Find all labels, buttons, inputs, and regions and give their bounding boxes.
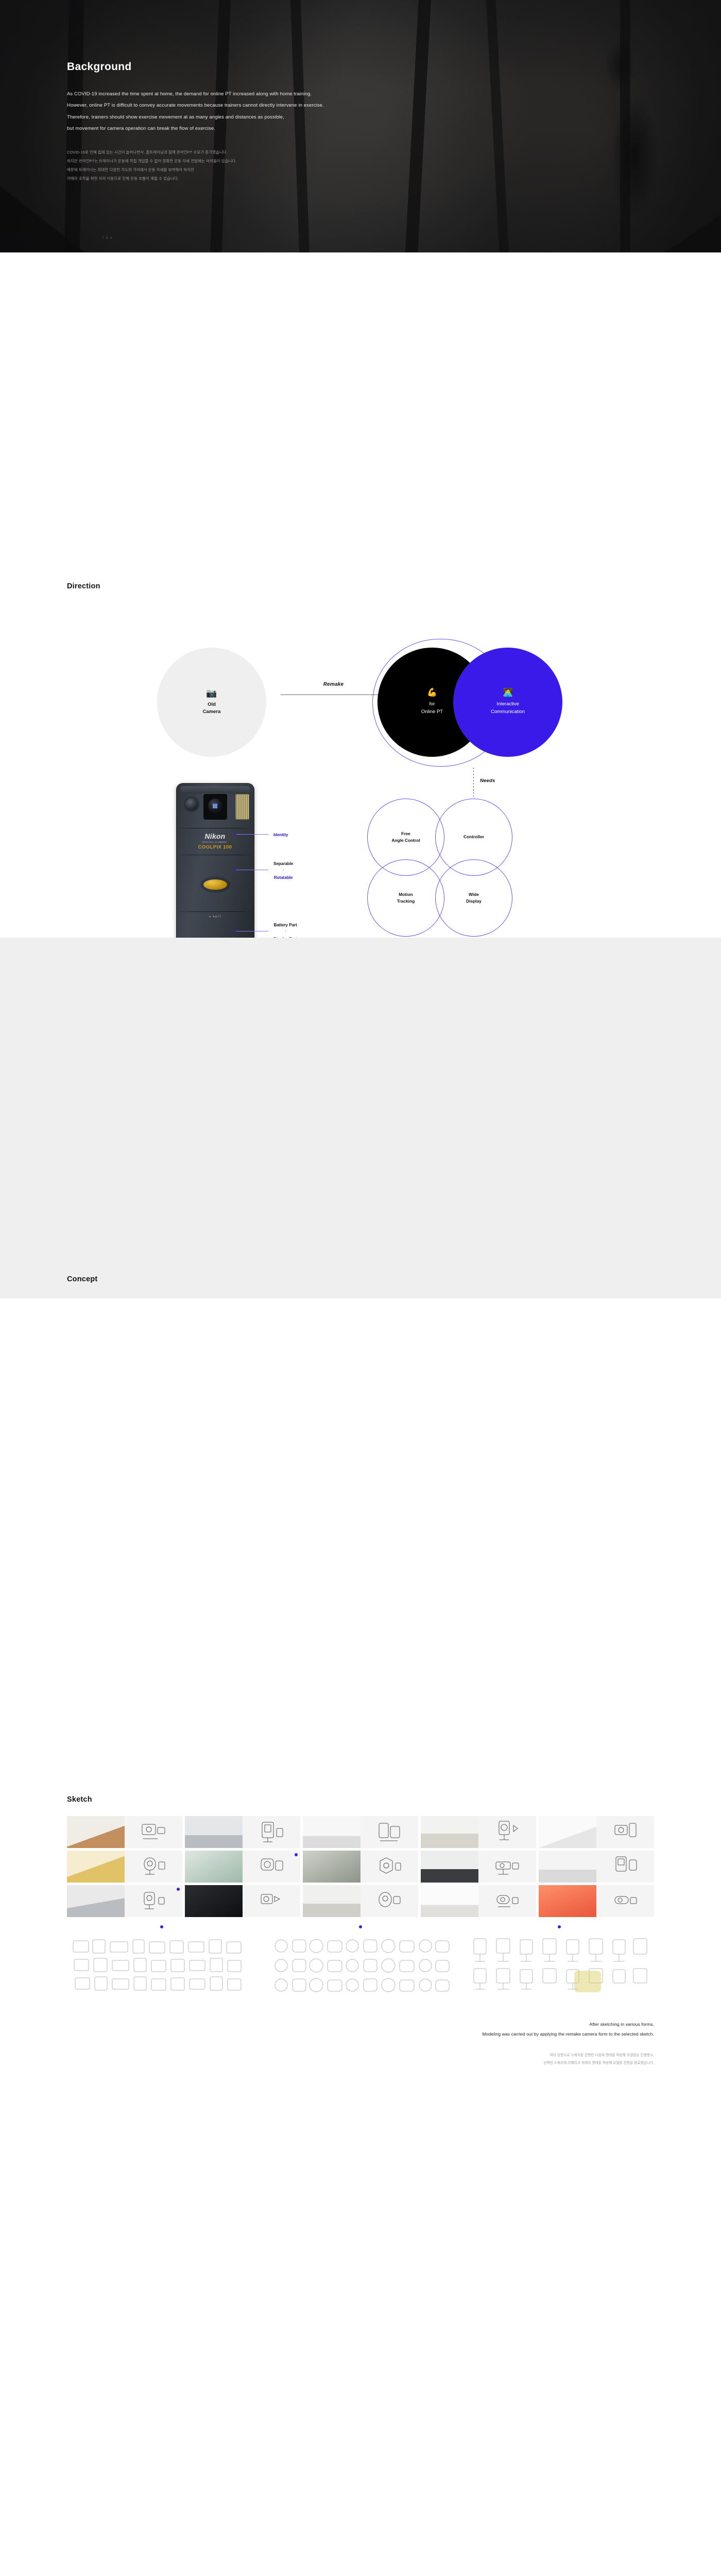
- sketch-thumbnail[interactable]: [303, 1851, 418, 1883]
- hero-content: Background As COVID-19 increased the tim…: [67, 61, 324, 183]
- sketch-en-line: Modeling was carried out by applying the…: [324, 2029, 654, 2039]
- sketch-drawing: [478, 1851, 536, 1883]
- sketch-thumbnail[interactable]: [539, 1851, 654, 1883]
- sketch-drawing: [596, 1885, 654, 1917]
- selected-badge-icon: [177, 1888, 180, 1891]
- sketch-drawing: [125, 1851, 182, 1883]
- sketch-drawing: [360, 1851, 418, 1883]
- remake-label: Remake: [281, 682, 386, 687]
- sketch-thumbnail[interactable]: [303, 1816, 418, 1848]
- callout-identity-label: Identity: [273, 833, 288, 837]
- camera-top-bar: [180, 786, 250, 793]
- people-icon: 👩‍💻: [503, 689, 513, 697]
- sketch-drawing: [478, 1885, 536, 1917]
- sketch-drawing: [478, 1816, 536, 1848]
- background-en-line: Therefore, trainers should show exercise…: [67, 112, 324, 123]
- sketch-thumbnail[interactable]: [539, 1816, 654, 1848]
- need-circle: Motion Tracking: [367, 859, 444, 937]
- need-label: Motion Tracking: [397, 891, 415, 905]
- needs-connector: Needs: [460, 768, 474, 796]
- sketch-sheet-drawing: [266, 1935, 455, 1996]
- old-camera-label-line1: Old: [208, 702, 216, 707]
- sketch-drawing: [596, 1851, 654, 1883]
- dotted-line-icon: [473, 768, 474, 796]
- sketch-thumbnail[interactable]: [421, 1851, 536, 1883]
- sketch-thumbnail[interactable]: [303, 1885, 418, 1917]
- interactive-communication-node: 👩‍💻 Interactive Communication: [453, 648, 562, 757]
- old-camera-node: 📷 Old Camera: [157, 648, 266, 757]
- sketch-paragraph-en: After sketching in various forms, Modeli…: [324, 2020, 654, 2039]
- need-label: Controller: [463, 834, 484, 840]
- camera-model-name: COOLPIX 100: [177, 844, 254, 850]
- callout-text: Identity: [273, 829, 288, 839]
- reference-photo: [67, 1885, 125, 1917]
- background-kr-line: 하지만 온라인PT는 트레이너가 운동에 직접 개입할 수 없어 정확한 운동 …: [67, 157, 324, 165]
- remake-connector: Remake: [281, 682, 386, 695]
- reference-photo: [67, 1816, 125, 1848]
- sketch-thumbnail-grid: [67, 1816, 654, 1917]
- background-paragraph-kr: COVID-19로 인해 집에 있는 시간이 늘어나면서, 홈트레이닝과 함께 …: [67, 148, 324, 183]
- reference-photo: [185, 1851, 243, 1883]
- sketch-kr-line: 여러 방향으로 스케치를 진행한 다음에 형태를 적용해 모델링을 진행했고,: [324, 2052, 654, 2059]
- flash-icon: [235, 794, 249, 820]
- need-label: Free Angle Control: [391, 831, 420, 844]
- online-pt-label-line1: for: [429, 701, 435, 707]
- selected-badge-icon: [359, 1925, 362, 1928]
- selected-badge-icon: [295, 1853, 298, 1856]
- sketch-thumbnail[interactable]: [67, 1851, 182, 1883]
- reference-photo: [303, 1885, 360, 1917]
- lens-icon: [208, 799, 222, 813]
- reference-photo: [421, 1885, 478, 1917]
- sketch-sheet-drawing: [67, 1935, 256, 1996]
- sketch-drawing: [243, 1885, 300, 1917]
- background-en-line: As COVID-19 increased the time spent at …: [67, 89, 324, 100]
- callout-battery-from: Battery Part: [273, 923, 297, 927]
- viewfinder-icon: [184, 796, 199, 812]
- selected-badge-icon: [558, 1925, 561, 1928]
- interactive-label-line1: Interactive: [496, 701, 519, 707]
- arrow-down-icon: ↓: [273, 868, 293, 872]
- reference-photo: [539, 1885, 596, 1917]
- concept-section: Concept Rotatable Structure Holder Body …: [0, 938, 721, 1298]
- background-title: Background: [67, 61, 324, 73]
- need-label-line2: Angle Control: [391, 838, 420, 843]
- callout-text: Separable ↓ Rotatable: [273, 858, 293, 882]
- reference-photo: [185, 1816, 243, 1848]
- need-label-line2: Display: [466, 899, 482, 904]
- muscle-icon: 💪: [427, 689, 437, 697]
- camera-seam: [178, 911, 252, 912]
- background-hero-section: Background As COVID-19 increased the tim…: [0, 0, 721, 252]
- needs-circle-group: Free Angle Control Controller Motion Tra…: [367, 799, 512, 937]
- sketch-drawing: [125, 1816, 182, 1848]
- reference-photo: [539, 1851, 596, 1883]
- sketch-drawing: [243, 1816, 300, 1848]
- callout-line-icon: [236, 834, 268, 835]
- concept-title: Concept: [67, 1275, 97, 1283]
- portfolio-page: Background As COVID-19 increased the tim…: [0, 0, 721, 2069]
- need-label-line1: Free: [401, 831, 410, 836]
- battery-marking: ▼ BATT: [177, 916, 254, 919]
- sketch-thumbnail[interactable]: [421, 1816, 536, 1848]
- interactive-label-line2: Communication: [491, 709, 525, 715]
- sketch-sheet[interactable]: [67, 1935, 256, 1996]
- sketch-sheet-drawing: [465, 1935, 654, 1996]
- grip-accent: [203, 879, 227, 890]
- sketch-title: Sketch: [67, 1795, 92, 1804]
- callout-separable-from: Separable: [273, 861, 293, 866]
- callout-line-icon: [236, 870, 268, 870]
- sketch-thumbnail[interactable]: [421, 1885, 536, 1917]
- callout-identity: Identity: [234, 829, 288, 839]
- needs-label: Needs: [480, 778, 495, 784]
- selected-badge-icon: [160, 1925, 163, 1928]
- sketch-drawing: [243, 1851, 300, 1883]
- need-label-line1: Wide: [469, 892, 479, 897]
- background-paragraph-en: As COVID-19 increased the time spent at …: [67, 89, 324, 134]
- callout-separable: Separable ↓ Rotatable: [234, 858, 293, 882]
- reference-photo: [539, 1816, 596, 1848]
- old-camera-label-line2: Camera: [203, 709, 221, 715]
- reference-photo: [421, 1816, 478, 1848]
- sketch-thumbnail[interactable]: [67, 1885, 182, 1917]
- need-label: Wide Display: [466, 891, 482, 905]
- sketch-thumbnail[interactable]: [185, 1816, 300, 1848]
- sketch-kr-line: 선택한 스케치에 리메이크 카메라 형태를 적용해 모델링 진행을 완료했습니다…: [324, 2059, 654, 2067]
- online-pt-label: for Online PT: [421, 701, 443, 716]
- selected-sketch-highlight: [574, 1971, 601, 1992]
- background-kr-line: 카메라 조작을 위한 자리 이동으로 인해 운동 흐름이 깨질 수 있습니다.: [67, 174, 324, 183]
- sketch-closing-text: After sketching in various forms, Modeli…: [324, 2020, 654, 2067]
- online-pt-label-line2: Online PT: [421, 709, 443, 715]
- reference-photo: [303, 1816, 360, 1848]
- hero-photo-credit: TRX: [102, 237, 114, 240]
- sketch-thumbnail[interactable]: [539, 1885, 654, 1917]
- sketch-drawing: [360, 1885, 418, 1917]
- lens-housing: [203, 794, 227, 820]
- direction-diagram: 📷 Old Camera Remake 💪 for Online PT: [0, 252, 721, 938]
- arrow-down-icon: ↓: [273, 929, 297, 934]
- background-kr-line: COVID-19로 인해 집에 있는 시간이 늘어나면서, 홈트레이닝과 함께 …: [67, 148, 324, 157]
- sketch-section: Sketch: [0, 1298, 721, 2069]
- sketch-drawing: [596, 1816, 654, 1848]
- old-camera-label: Old Camera: [203, 701, 221, 716]
- need-label-line2: Tracking: [397, 899, 415, 904]
- background-kr-line: 때문에 트레이너는 최대한 다양한 각도와 거리에서 운동 자세를 보여줘야 하…: [67, 165, 324, 174]
- remake-arrow-icon: [281, 694, 386, 695]
- interactive-label: Interactive Communication: [491, 701, 525, 716]
- sketch-sheet[interactable]: [266, 1935, 455, 1996]
- camera-brand-sub: DIGITAL CAMERA: [177, 841, 254, 843]
- background-en-line: but movement for camera operation can br…: [67, 123, 324, 134]
- background-en-line: However, online PT is difficult to conve…: [67, 100, 324, 111]
- reference-photo: [67, 1851, 125, 1883]
- sketch-drawing: [125, 1885, 182, 1917]
- sketch-drawing: [360, 1816, 418, 1848]
- sketch-en-line: After sketching in various forms,: [324, 2020, 654, 2029]
- sketch-sheet-group: [67, 1935, 654, 1996]
- sketch-thumbnail[interactable]: [67, 1816, 182, 1848]
- callout-separable-to: Rotatable: [274, 875, 293, 880]
- callout-line-icon: [236, 931, 268, 931]
- sketch-sheet[interactable]: [465, 1935, 654, 1996]
- direction-section: Direction 📷 Old Camera Remake 💪 for: [0, 252, 721, 938]
- camera-seam: [178, 855, 252, 855]
- reference-photo: [303, 1851, 360, 1883]
- sketch-thumbnail[interactable]: [185, 1851, 300, 1883]
- need-circle: Wide Display: [435, 859, 512, 937]
- sketch-thumbnail[interactable]: [185, 1885, 300, 1917]
- reference-photo: [421, 1851, 478, 1883]
- sketch-paragraph-kr: 여러 방향으로 스케치를 진행한 다음에 형태를 적용해 모델링을 진행했고, …: [324, 2052, 654, 2067]
- need-label-line1: Motion: [399, 892, 413, 897]
- camera-seam: [178, 828, 252, 828]
- reference-photo: [185, 1885, 243, 1917]
- camera-icon: 📷: [206, 689, 217, 698]
